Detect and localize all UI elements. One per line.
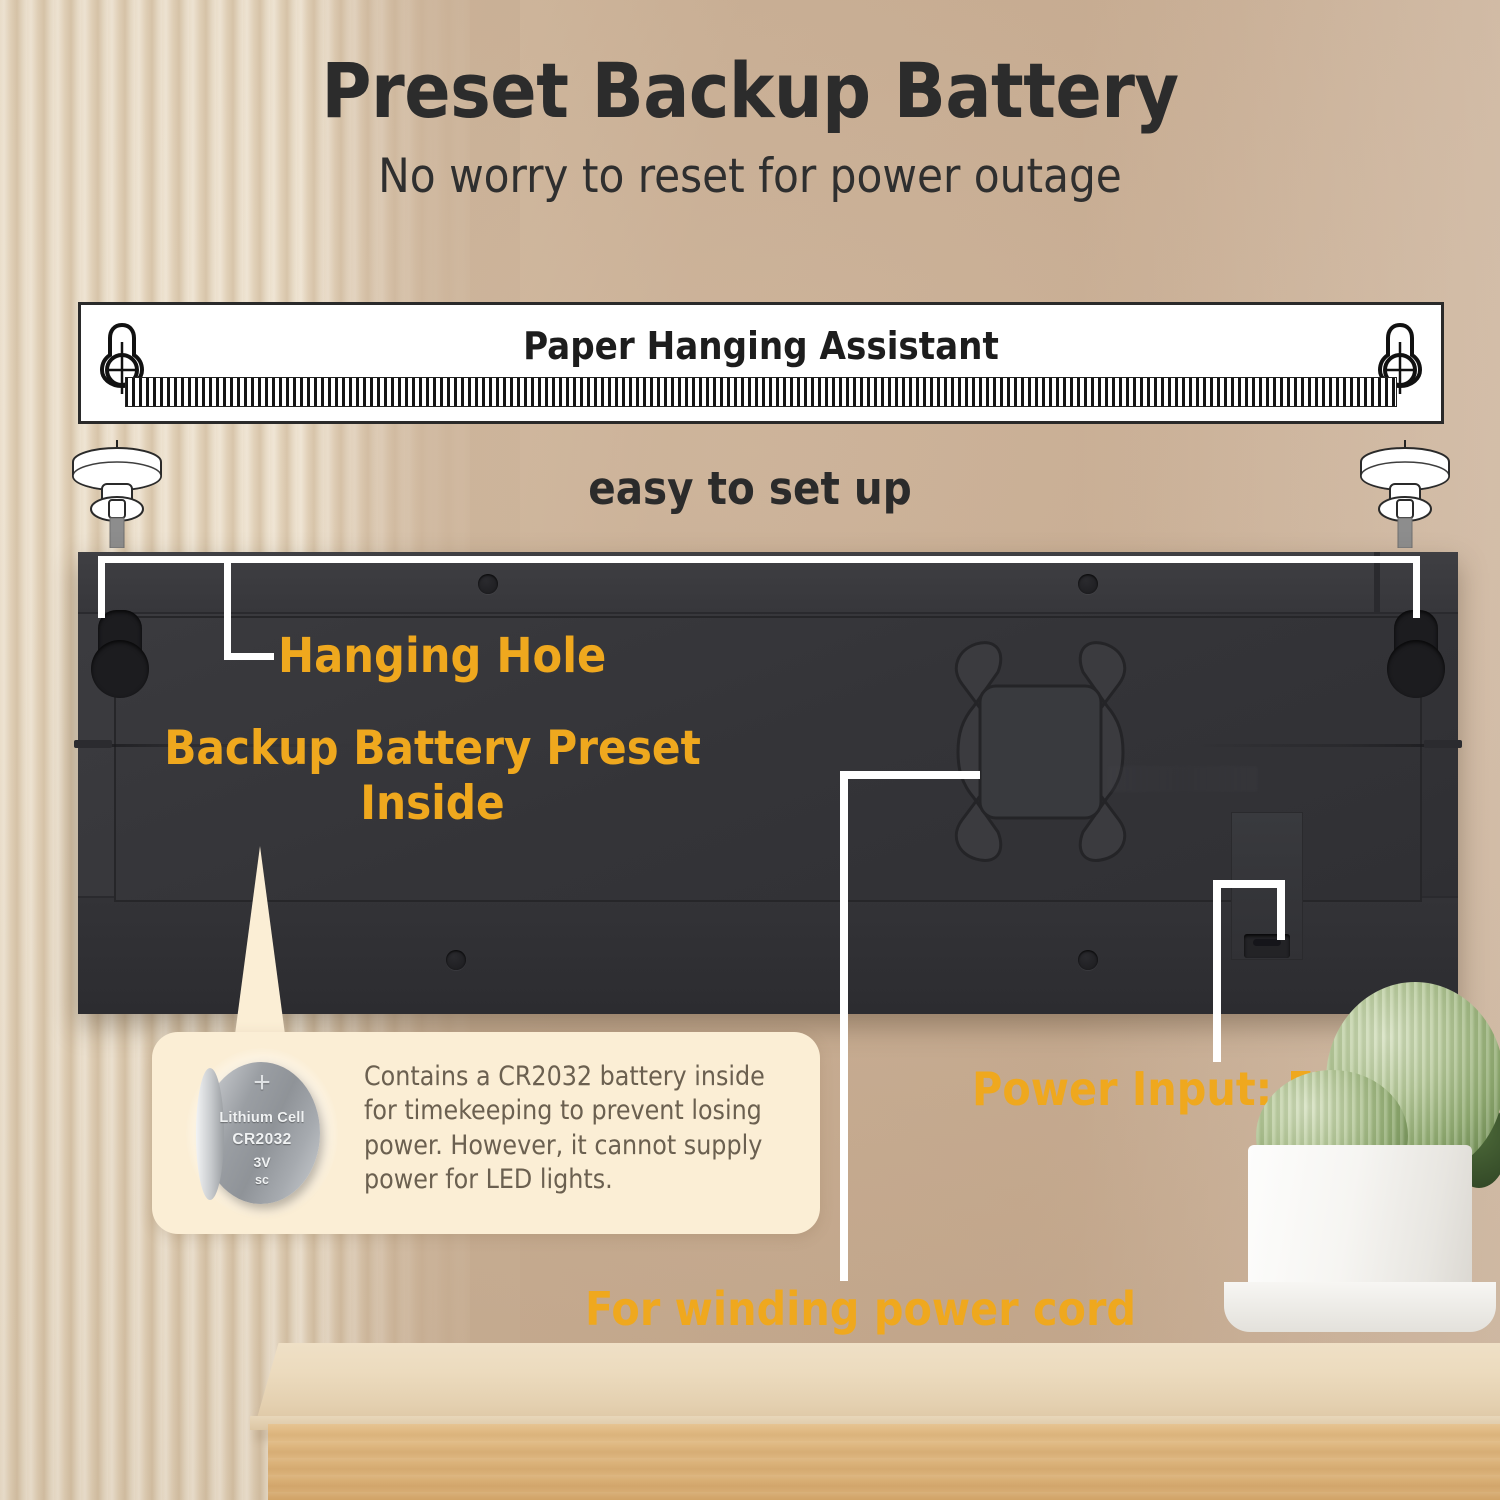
- screw-hole: [1078, 574, 1098, 594]
- hanging-hole-right: [1394, 610, 1438, 688]
- molded-branding-emboss: [1108, 766, 1258, 792]
- setup-caption: easy to set up: [0, 462, 1500, 515]
- hanging-hole-right-round: [1387, 640, 1445, 698]
- battery-model-label: CR2032: [210, 1131, 314, 1149]
- screw-hole: [446, 950, 466, 970]
- paper-hanging-template: Paper Hanging Assistant: [78, 302, 1444, 424]
- callout-pointer: [234, 846, 286, 1042]
- annotation-backup-battery: Backup Battery Preset Inside: [160, 722, 705, 831]
- leader-line-hanging-hole-elbow: [224, 653, 274, 660]
- hanging-hole-left-round: [91, 640, 149, 698]
- leader-line-left-drop: [98, 556, 105, 618]
- cactus-plant: [1218, 960, 1500, 1385]
- infographic-scene: Preset Backup Battery No worry to reset …: [0, 0, 1500, 1500]
- page-title: Preset Backup Battery: [0, 46, 1500, 135]
- table-edge: [268, 1424, 1500, 1500]
- cord-winding-spool: [918, 634, 1163, 869]
- battery-markings: + Lithium Cell CR2032 3V sc: [210, 1068, 314, 1187]
- battery-chemistry-label: Lithium Cell: [210, 1110, 314, 1126]
- leader-line-cord-horizontal: [840, 771, 980, 779]
- plant-saucer: [1224, 1282, 1496, 1332]
- leader-line-hanging-hole-vertical: [224, 556, 231, 660]
- hanging-hole-left: [98, 610, 142, 688]
- leader-line-cord-vertical: [840, 771, 848, 1281]
- leader-line-top-bracket: [98, 556, 1420, 563]
- battery-callout-text: Contains a CR2032 battery inside for tim…: [364, 1060, 796, 1198]
- leader-line-power-short-drop: [1277, 880, 1285, 940]
- annotation-winding-cord: For winding power cord: [585, 1282, 1136, 1336]
- paper-template-title: Paper Hanging Assistant: [81, 324, 1441, 368]
- page-subtitle: No worry to reset for power outage: [0, 149, 1500, 204]
- battery-code-label: sc: [210, 1173, 314, 1187]
- battery-callout-box: + Lithium Cell CR2032 3V sc Contains a C…: [152, 1032, 820, 1234]
- ruler-border: [125, 377, 1397, 407]
- header: Preset Backup Battery No worry to reset …: [0, 0, 1500, 204]
- battery-plus-symbol: +: [210, 1068, 314, 1098]
- cr2032-battery-icon: + Lithium Cell CR2032 3V sc: [196, 1058, 328, 1208]
- leader-line-power-horizontal: [1213, 880, 1285, 888]
- screw-hole: [478, 574, 498, 594]
- leader-line-right-drop: [1413, 556, 1420, 618]
- clock-side-tab-right: [1424, 740, 1462, 748]
- screw-hole: [1078, 950, 1098, 970]
- plant-pot: [1248, 1145, 1472, 1297]
- clock-side-tab-left: [74, 740, 112, 748]
- wood-grain-texture: [268, 1424, 1500, 1500]
- battery-voltage-label: 3V: [210, 1154, 314, 1170]
- annotation-hanging-hole: Hanging Hole: [278, 628, 606, 684]
